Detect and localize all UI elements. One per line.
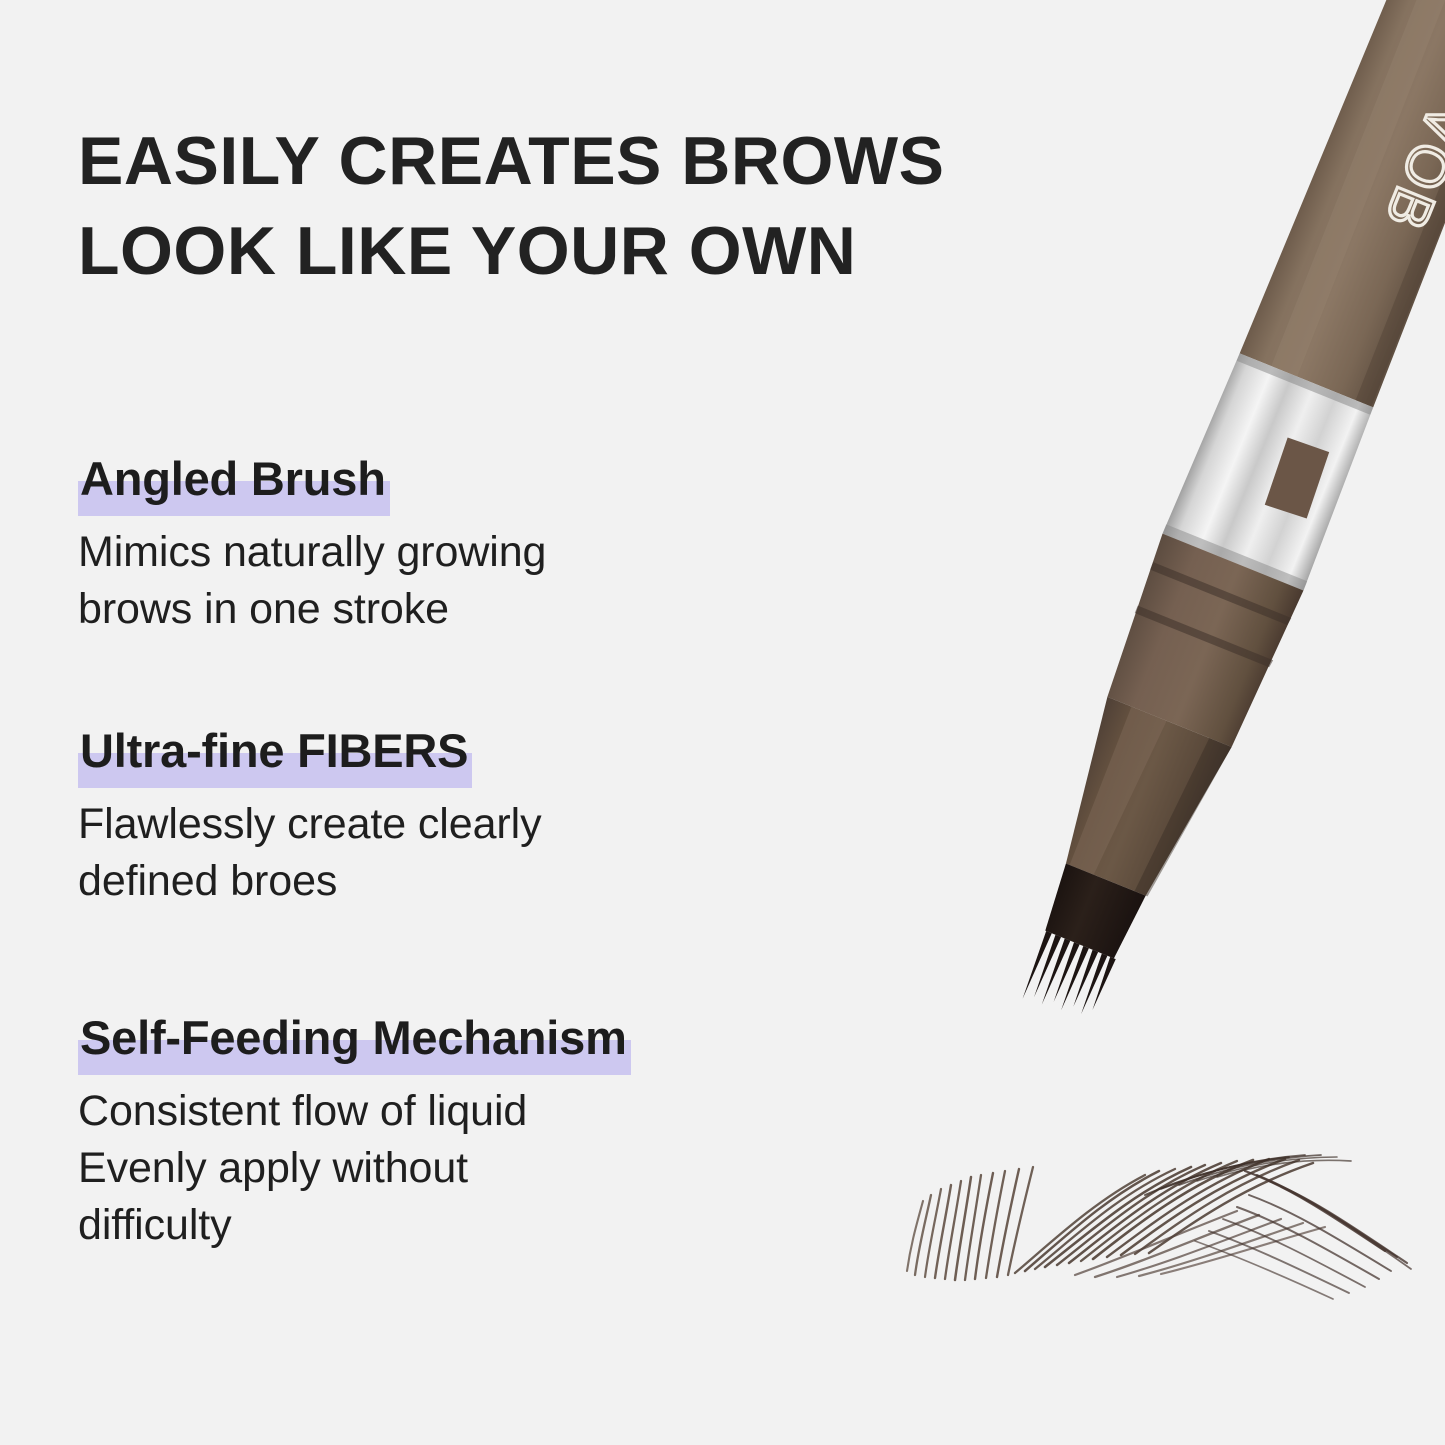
feature-title: Self-Feeding Mechanism	[78, 1014, 631, 1061]
feature-description: Mimics naturally growing brows in one st…	[78, 524, 546, 638]
pen-cone	[1044, 697, 1232, 905]
eyebrow-swatch-image	[845, 1075, 1445, 1335]
brow-hair-strokes	[907, 1155, 1411, 1299]
feature-title: Ultra-fine FIBERS	[78, 727, 472, 774]
pen-barrel	[1240, 0, 1445, 407]
product-feature-graphic: EASILY CREATES BROWS LOOK LIKE YOUR OWN …	[0, 0, 1445, 1445]
feature-item-self-feeding-mechanism: Self-Feeding Mechanism Consistent flow o…	[78, 1014, 631, 1255]
pen-fork-prongs	[1019, 931, 1116, 1026]
page-title: EASILY CREATES BROWS LOOK LIKE YOUR OWN	[78, 116, 1198, 297]
feature-title: Angled Brush	[78, 455, 390, 502]
feature-item-ultra-fine-fibers: Ultra-fine FIBERS Flawlessly create clea…	[78, 727, 541, 910]
headline-line-2: LOOK LIKE YOUR OWN	[78, 206, 1198, 296]
pen-metal-band	[1163, 352, 1377, 591]
pen-tip	[1040, 863, 1146, 960]
feature-item-angled-brush: Angled Brush Mimics naturally growing br…	[78, 455, 546, 638]
feature-description: Consistent flow of liquid Evenly apply w…	[78, 1083, 631, 1255]
pen-brand-text: VOB	[1372, 95, 1445, 241]
feature-description: Flawlessly create clearly defined broes	[78, 796, 541, 910]
shade-window	[1261, 436, 1333, 522]
headline-line-1: EASILY CREATES BROWS	[78, 116, 1198, 206]
pen-ribbed-section	[1098, 534, 1303, 750]
